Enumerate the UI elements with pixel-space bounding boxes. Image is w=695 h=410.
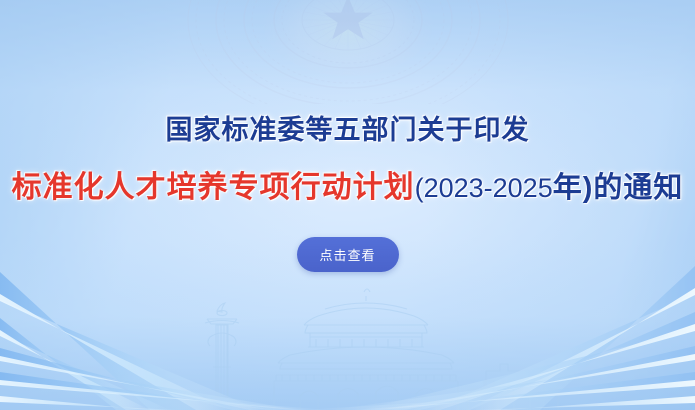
title-line-1: 国家标准委等五部门关于印发 [0,110,695,150]
gate-wall [274,375,458,410]
gate-roof [304,289,428,337]
title-period: (2023-2025 [415,173,553,203]
title-tail: 的通知 [593,172,683,204]
cta-row: 点击查看 [0,237,695,272]
title-period-year-suffix: 年) [553,172,594,204]
banner-copy: 国家标准委等五部门关于印发 标准化人才培养专项行动计划(2023-2025年)的… [0,110,695,272]
title-line-2: 标准化人才培养专项行动计划(2023-2025年)的通知 [0,167,695,214]
gate-gallery [278,337,454,369]
notice-banner: 国家标准委等五部门关于印发 标准化人才培养专项行动计划(2023-2025年)的… [0,0,695,410]
national-emblem-watermark-icon [183,0,513,104]
view-detail-button[interactable]: 点击查看 [297,237,399,272]
huabiao-column [205,303,239,397]
great-wall [468,364,558,410]
tiananmen-silhouette-icon [150,275,580,410]
title-plan-name: 标准化人才培养专项行动计划 [12,171,415,204]
